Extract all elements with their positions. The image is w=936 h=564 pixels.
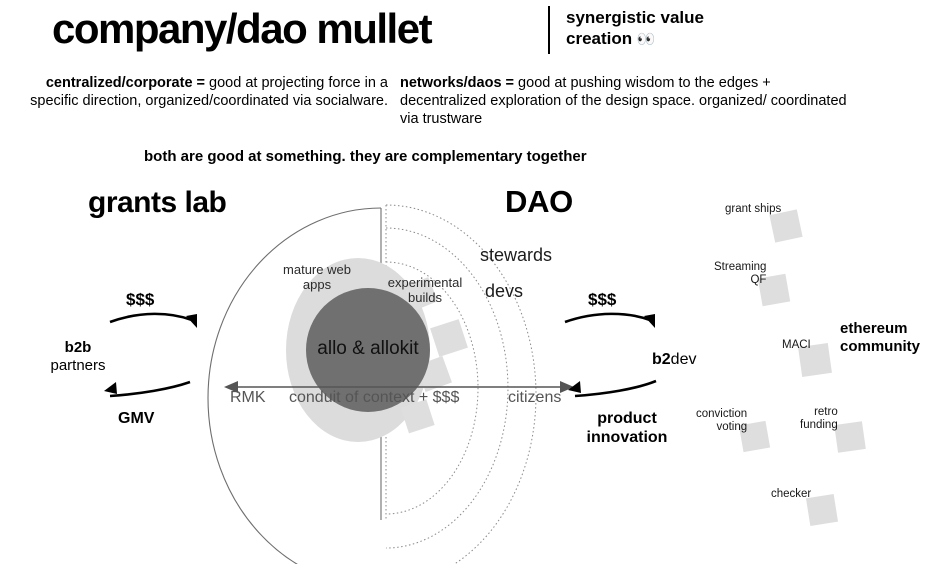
label-mature-web-apps-line2: apps xyxy=(303,277,331,292)
eco-label: retrofunding xyxy=(800,406,838,432)
flow-arrow-right-bottom xyxy=(575,381,656,396)
label-experimental-builds-line1: experimental xyxy=(388,275,462,290)
axis-label-conduit: conduit of context + $$$ xyxy=(289,390,459,405)
flow-label-product: product xyxy=(597,410,657,427)
flow-label-left-money: $$$ xyxy=(126,290,154,310)
flow-arrow-right-top xyxy=(565,314,650,322)
flow-label-gmv: GMV xyxy=(118,410,154,428)
label-stewards: stewards xyxy=(480,248,552,263)
label-ethereum: ethereum xyxy=(840,320,908,337)
label-experimental-builds: experimental builds xyxy=(375,275,475,305)
flow-label-right-money: $$$ xyxy=(588,290,616,310)
label-ethereum-community: ethereum community xyxy=(840,320,936,356)
axis-label-citizens: citizens xyxy=(508,390,561,405)
label-core-allo-allokit: allo & allokit xyxy=(306,341,430,356)
flow-arrow-left-top-head xyxy=(186,314,197,328)
eco-label: checker xyxy=(771,488,811,501)
eco-label: convictionvoting xyxy=(696,408,747,434)
flow-label-b2b-partners: b2b partners xyxy=(37,339,119,375)
eco-label: StreamingQF xyxy=(714,261,766,287)
flow-label-b2b-bold: b2b xyxy=(65,339,92,356)
axis-arrowhead-right xyxy=(560,381,574,393)
flow-arrow-right-top-head xyxy=(644,314,655,328)
label-community: community xyxy=(840,338,920,355)
flow-label-innovation: innovation xyxy=(587,429,668,446)
flow-arrow-left-top xyxy=(110,314,192,322)
flow-arrow-left-bottom-head xyxy=(104,382,117,394)
flow-label-b2dev-bold: b2 xyxy=(652,351,671,368)
flow-label-b2dev: b2dev xyxy=(652,351,696,369)
label-mature-web-apps: mature web apps xyxy=(274,262,360,292)
label-experimental-builds-line2: builds xyxy=(408,290,442,305)
flow-arrow-left-bottom xyxy=(110,382,190,396)
flow-label-partners: partners xyxy=(50,357,105,374)
label-devs: devs xyxy=(485,284,523,299)
flow-label-product-innovation: product innovation xyxy=(565,409,689,447)
eco-square xyxy=(834,421,866,453)
axis-label-rmk: RMK xyxy=(230,390,266,405)
eco-label: grant ships xyxy=(725,203,781,216)
eco-label: MACI xyxy=(782,339,811,352)
flow-label-b2dev-plain: dev xyxy=(671,351,697,368)
label-mature-web-apps-line1: mature web xyxy=(283,262,351,277)
